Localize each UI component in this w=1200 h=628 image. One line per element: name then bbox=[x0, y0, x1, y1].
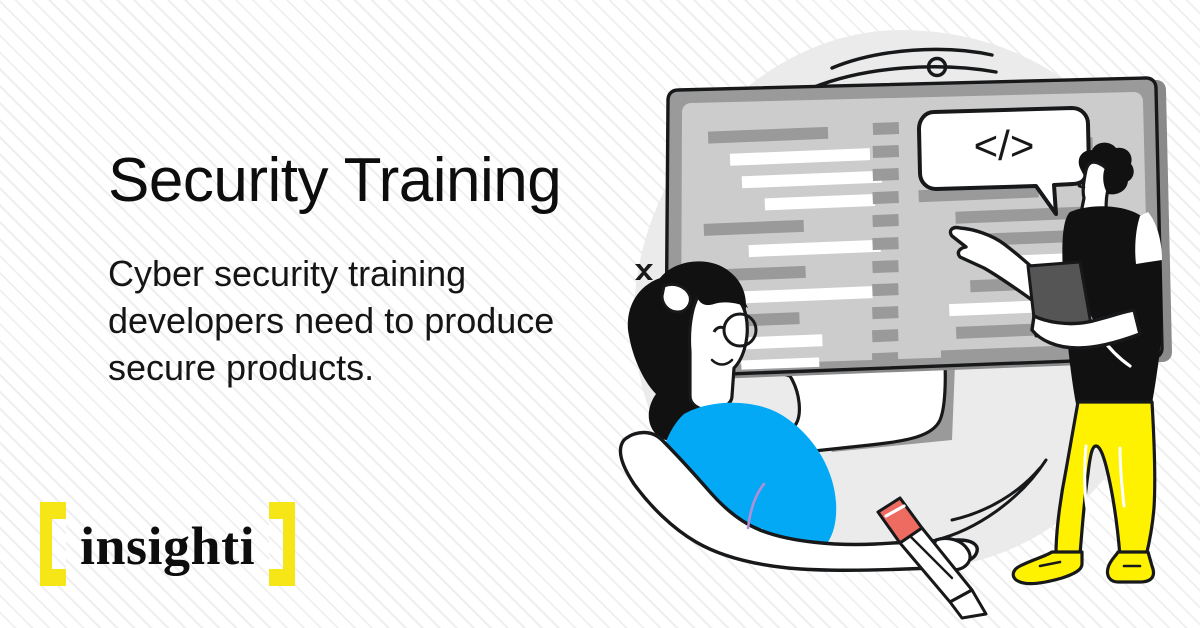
hair-tie bbox=[662, 284, 690, 312]
brand-logo[interactable]: insighti bbox=[40, 502, 295, 586]
hero-illustration: </> bbox=[600, 0, 1200, 628]
logo-wordmark: insighti bbox=[66, 519, 269, 573]
page-title: Security Training bbox=[108, 148, 628, 213]
banner-root: Security Training Cyber security trainin… bbox=[0, 0, 1200, 628]
text-column: Security Training Cyber security trainin… bbox=[108, 148, 628, 391]
illustration-svg: </> bbox=[600, 0, 1200, 628]
logo-bracket-right-icon bbox=[269, 502, 295, 586]
page-subtitle: Cyber security training developers need … bbox=[108, 251, 578, 391]
code-bubble-text: </> bbox=[974, 122, 1035, 169]
logo-bracket-left-icon bbox=[40, 502, 66, 586]
developer-shoe-left bbox=[1013, 552, 1082, 584]
